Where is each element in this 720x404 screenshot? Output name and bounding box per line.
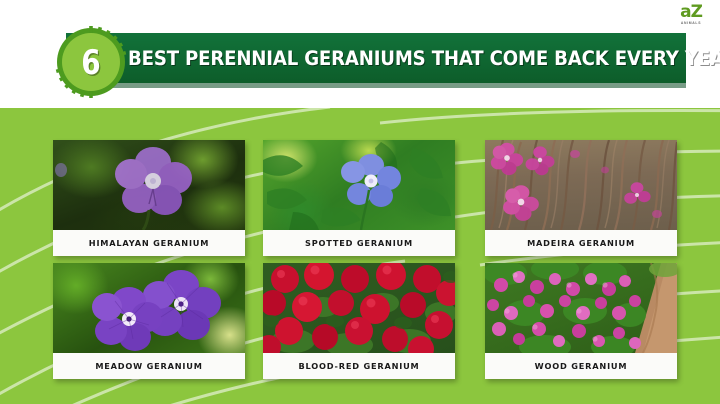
card-blood-red-geranium[interactable]: BLOOD-RED GERANIUM: [263, 263, 455, 379]
badge-number-text: 6: [61, 26, 120, 98]
card-photo: [485, 263, 677, 353]
az-animals-logo[interactable]: aZ ANIMALS: [672, 4, 710, 30]
card-caption: MADEIRA GERANIUM: [485, 230, 677, 256]
card-meadow-geranium[interactable]: MEADOW GERANIUM: [53, 263, 245, 379]
card-caption: MEADOW GERANIUM: [53, 353, 245, 379]
card-caption: WOOD GERANIUM: [485, 353, 677, 379]
card-photo: [485, 140, 677, 230]
page-title: BEST PERENNIAL GERANIUMS THAT COME BACK …: [128, 45, 640, 73]
spotted-geranium-flower-icon: [263, 140, 455, 230]
card-caption: SPOTTED GERANIUM: [263, 230, 455, 256]
madeira-geranium-stems-icon: [485, 140, 677, 230]
title-banner-shadow: [72, 83, 686, 88]
card-photo: [53, 263, 245, 353]
logo-wordmark: ANIMALS: [672, 22, 710, 25]
card-grid: HIMALAYAN GERANIUM: [0, 105, 720, 404]
card-caption: HIMALAYAN GERANIUM: [53, 230, 245, 256]
card-spotted-geranium[interactable]: SPOTTED GERANIUM: [263, 140, 455, 256]
card-himalayan-geranium[interactable]: HIMALAYAN GERANIUM: [53, 140, 245, 256]
red-geranium-mass-icon: [263, 263, 455, 353]
card-caption: BLOOD-RED GERANIUM: [263, 353, 455, 379]
card-wood-geranium[interactable]: WOOD GERANIUM: [485, 263, 677, 379]
meadow-geranium-blooms-icon: [53, 263, 245, 353]
number-badge: 6: [55, 26, 127, 98]
logo-mark: aZ: [672, 4, 710, 21]
card-photo: [263, 263, 455, 353]
wood-geranium-border-icon: [485, 263, 677, 353]
purple-geranium-flower-icon: [53, 140, 245, 230]
header-region: aZ ANIMALS 6 BEST PERE: [0, 0, 720, 108]
card-photo: [53, 140, 245, 230]
card-photo: [263, 140, 455, 230]
infographic-canvas: aZ ANIMALS 6 BEST PERE: [0, 0, 720, 404]
card-madeira-geranium[interactable]: MADEIRA GERANIUM: [485, 140, 677, 256]
